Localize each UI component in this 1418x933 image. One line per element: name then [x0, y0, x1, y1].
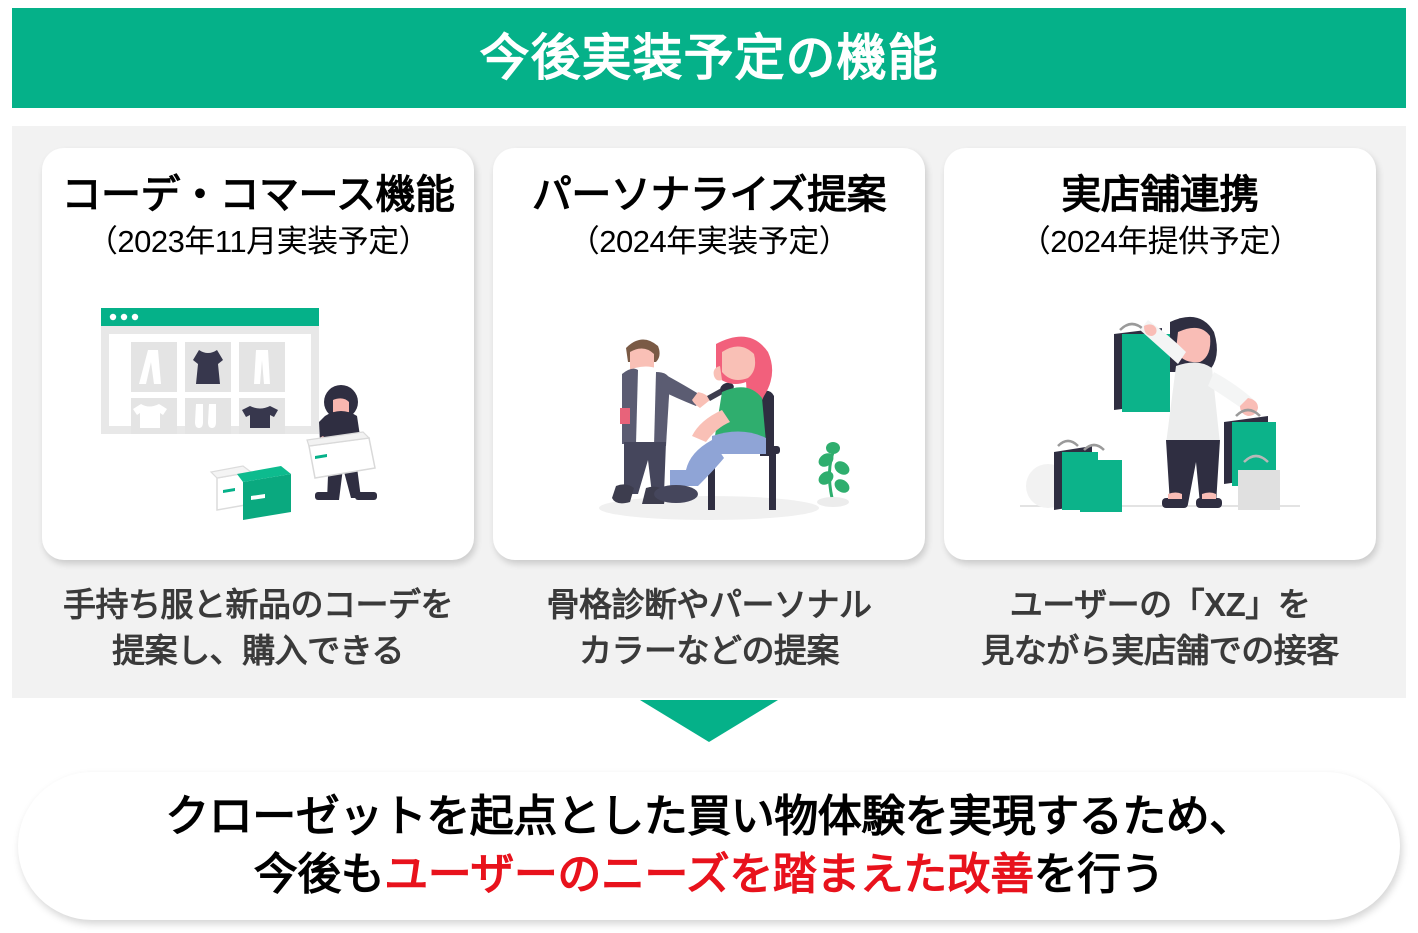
feature-column-1: コーデ・コマース機能 （2023年11月実装予定） — [42, 148, 474, 698]
feature-card-2-caption-line1: 骨格診断やパーソナル — [547, 582, 872, 628]
conclusion-line-1: クローゼットを起点とした買い物体験を実現するため、 — [165, 788, 1253, 846]
feature-column-2: パーソナライズ提案 （2024年実装予定） — [493, 148, 925, 698]
feature-card-3-title: 実店舗連携 — [1061, 172, 1259, 218]
feature-card-1-subtitle: （2023年11月実装予定） — [87, 222, 429, 262]
conclusion-box: クローゼットを起点とした買い物体験を実現するため、 今後もユーザーのニーズを踏ま… — [18, 772, 1400, 920]
arrow-container — [0, 700, 1418, 762]
features-panel: コーデ・コマース機能 （2023年11月実装予定） — [12, 126, 1406, 698]
feature-card-3-caption-line2: 見ながら実店舗での接客 — [981, 628, 1339, 674]
feature-card-3-caption: ユーザーの「XZ」を 見ながら実店舗での接客 — [981, 582, 1339, 673]
conclusion-line-2-prefix: 今後も — [254, 850, 385, 899]
feature-card-3[interactable]: 実店舗連携 （2024年提供予定） — [944, 148, 1376, 560]
conclusion-line-2-highlight: ユーザーのニーズを踏まえた改善 — [384, 850, 1033, 899]
feature-card-2-subtitle: （2024年実装予定） — [569, 222, 849, 262]
feature-card-3-caption-line1: ユーザーの「XZ」を — [981, 582, 1339, 628]
header-banner: 今後実装予定の機能 — [12, 8, 1406, 108]
woman-holding-shopping-bags-illustration — [944, 262, 1376, 560]
feature-card-1-title: コーデ・コマース機能 — [62, 172, 455, 218]
conclusion-line-2: 今後もユーザーのニーズを踏まえた改善を行う — [254, 846, 1164, 904]
feature-card-2-caption: 骨格診断やパーソナル カラーなどの提案 — [547, 582, 872, 673]
feature-column-3: 実店舗連携 （2024年提供予定） — [944, 148, 1376, 698]
feature-cards-row: コーデ・コマース機能 （2023年11月実装予定） — [12, 126, 1406, 698]
ecommerce-browser-person-boxes-illustration — [42, 262, 474, 560]
feature-card-2-caption-line2: カラーなどの提案 — [547, 628, 872, 674]
page-title: 今後実装予定の機能 — [480, 33, 939, 83]
conclusion-line-2-suffix: を行う — [1034, 850, 1165, 899]
down-arrow-icon — [640, 700, 778, 742]
feature-card-2[interactable]: パーソナライズ提案 （2024年実装予定） — [493, 148, 925, 560]
slide-root: 今後実装予定の機能 コーデ・コマース機能 （2023年11月実装予定） — [0, 0, 1418, 933]
feature-card-1-caption-line1: 手持ち服と新品のコーデを — [63, 582, 453, 628]
feature-card-2-title: パーソナライズ提案 — [532, 172, 886, 218]
feature-card-1[interactable]: コーデ・コマース機能 （2023年11月実装予定） — [42, 148, 474, 560]
feature-card-1-caption: 手持ち服と新品のコーデを 提案し、購入できる — [63, 582, 453, 673]
stylist-makeup-seated-client-illustration — [493, 262, 925, 560]
feature-card-3-subtitle: （2024年提供予定） — [1020, 222, 1300, 262]
feature-card-1-caption-line2: 提案し、購入できる — [63, 628, 453, 674]
